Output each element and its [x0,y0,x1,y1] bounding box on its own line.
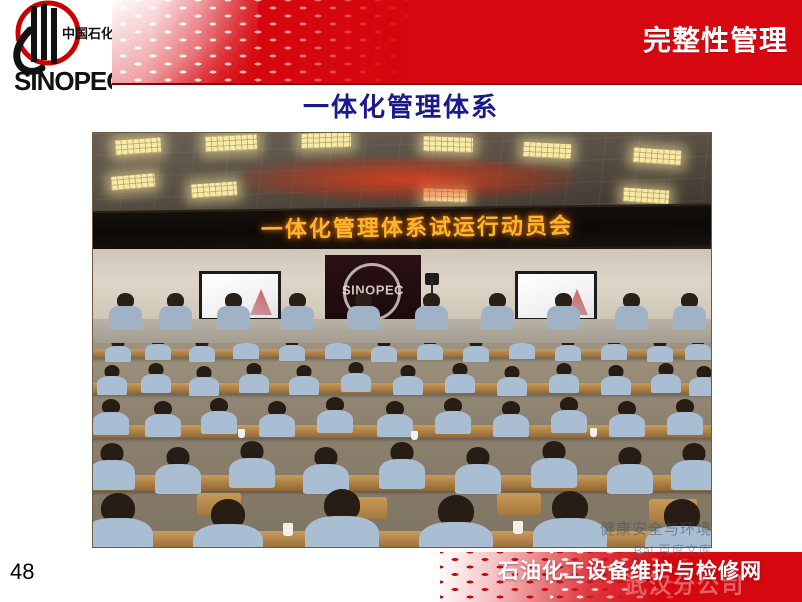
attendee [325,343,351,358]
panelist [413,293,449,327]
panelist [279,293,315,327]
attendee [105,343,131,361]
attendee [141,363,171,391]
cup [513,521,523,534]
attendee [419,495,493,548]
attendee [601,343,627,359]
slide-title: 一体化管理体系 [0,90,802,124]
attendee [189,366,219,394]
led-banner-text: 一体化管理体系试运行动员会 [261,212,573,244]
attendee [607,447,653,491]
panelist [671,293,707,327]
attendee [371,343,397,361]
attendee [239,363,269,391]
sinopec-logo-mark: 中国石化 SINOPEC [0,0,112,100]
header-title: 完整性管理 [643,22,788,60]
attendee [377,401,413,435]
attendee [497,366,527,394]
cup [590,428,597,437]
svg-text:SINOPEC: SINOPEC [14,66,112,96]
attendee [93,493,153,548]
attendee [509,343,535,358]
attendee [493,401,529,435]
attendee [97,365,127,393]
ceiling-lamp [205,134,258,153]
attendee [303,447,349,491]
audience-area [93,343,712,548]
attendee [233,343,259,358]
attendee [259,401,295,435]
attendee [651,363,681,391]
led-glow [243,157,573,201]
ceiling-lamp [423,136,473,153]
attendee [201,398,237,432]
site-watermark: 石油化工设备维护与检修网 [498,558,762,586]
cup [238,429,245,438]
cup [283,523,293,536]
attendee [93,399,129,433]
attendee [601,365,631,393]
page-number: 48 [10,558,34,586]
svg-text:中国石化: 中国石化 [62,26,112,41]
attendee [647,343,673,361]
panelist [107,293,143,327]
attendee [317,397,353,431]
attendee [555,343,581,360]
meeting-photo: 一体化管理体系试运行动员会 SINOPEC [92,132,712,548]
sinopec-logo: 中国石化 SINOPEC [0,0,112,100]
panelist [345,293,381,327]
attendee [341,362,371,390]
attendee [533,491,607,548]
attendee [551,397,587,431]
attendee [145,401,181,435]
attendee [455,447,501,491]
ceiling-lamp [301,132,351,149]
attendee [279,343,305,360]
baidu-watermark: Bai 百度文库 [634,542,712,559]
ceiling-lamp [115,137,162,155]
attendee [193,499,263,548]
attendee [445,363,475,391]
attendee [379,442,425,486]
attendee [671,443,712,487]
panelist [215,293,251,327]
attendee [289,365,319,393]
header-halftone-fade [108,0,258,85]
attendee [229,441,275,485]
attendee [417,343,443,359]
attendee [435,398,471,432]
attendee [685,343,711,359]
attendee [393,365,423,393]
attendee [305,489,379,548]
attendee [155,447,201,491]
attendee [463,343,489,361]
hse-watermark: 健康安全与环境 [600,520,712,540]
attendee [667,399,703,433]
panelist [157,293,193,327]
cup [411,431,418,440]
panelist [613,293,649,327]
attendee [145,343,171,359]
attendee [689,366,712,394]
attendee [93,443,135,487]
panelist [479,293,515,327]
panelist [545,293,581,327]
attendee [189,343,215,361]
header-banner: 完整性管理 [0,0,802,85]
attendee [609,401,645,435]
attendee [531,441,577,485]
led-banner: 一体化管理体系试运行动员会 [93,203,712,255]
attendee [549,363,579,391]
header-underline [0,83,802,85]
